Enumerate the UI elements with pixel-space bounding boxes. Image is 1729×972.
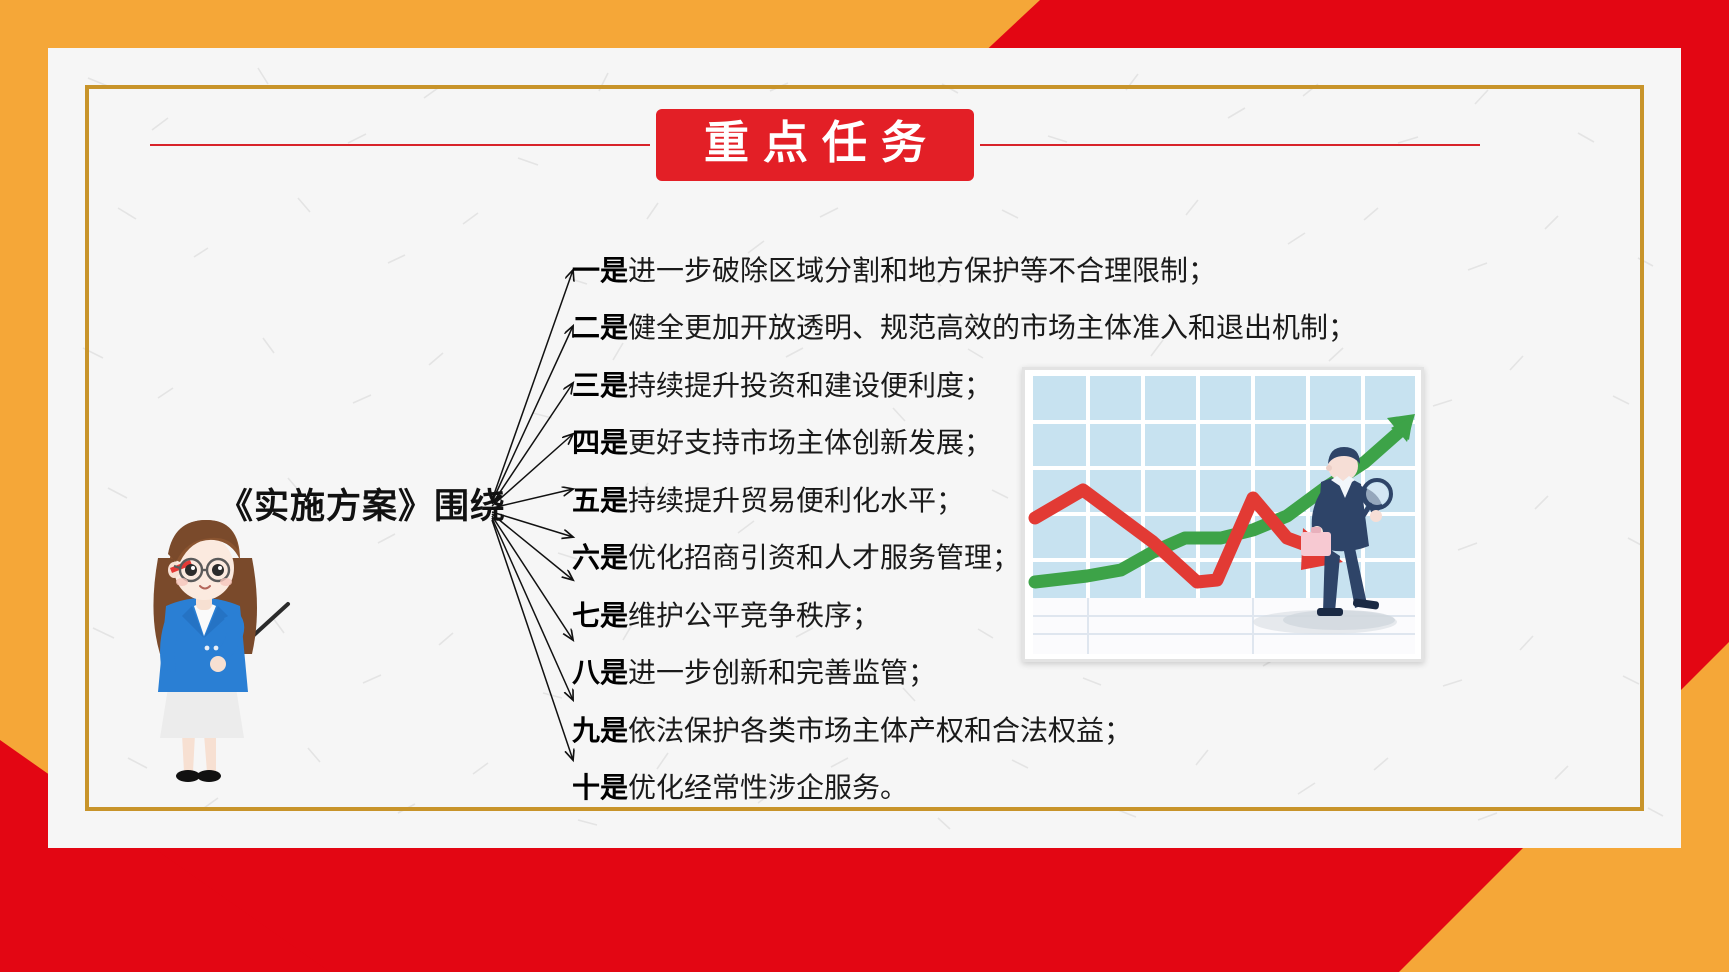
- title-row: 重点任务: [150, 108, 1480, 182]
- business-growth-chart-illustration: [1022, 367, 1424, 662]
- task-text: 持续提升贸易便利化水平；: [628, 479, 964, 519]
- poster-canvas: 重点任务 《实施方案》围绕 一是 进一步破除区域分割和地方保护等不合理限制；: [0, 0, 1729, 972]
- task-number: 九是: [572, 709, 628, 749]
- task-item: 十是 优化经常性涉企服务。: [572, 758, 1392, 816]
- title-rule-right: [980, 144, 1480, 146]
- task-item: 一是 进一步破除区域分割和地方保护等不合理限制；: [572, 240, 1392, 298]
- task-text: 更好支持市场主体创新发展；: [628, 421, 992, 461]
- task-text: 健全更加开放透明、规范高效的市场主体准入和退出机制；: [628, 306, 1356, 346]
- title-rule-left: [150, 144, 650, 146]
- task-number: 四是: [572, 421, 628, 461]
- page-title: 重点任务: [656, 109, 974, 181]
- task-number: 六是: [572, 536, 628, 576]
- task-text: 维护公平竞争秩序；: [628, 594, 880, 634]
- task-number: 八是: [572, 651, 628, 691]
- task-number: 五是: [572, 479, 628, 519]
- task-item: 九是 依法保护各类市场主体产权和合法权益；: [572, 700, 1392, 758]
- task-number: 二是: [572, 306, 628, 346]
- task-text: 进一步创新和完善监管；: [628, 651, 936, 691]
- task-text: 持续提升投资和建设便利度；: [628, 364, 992, 404]
- task-text: 优化招商引资和人才服务管理；: [628, 536, 1020, 576]
- task-number: 七是: [572, 594, 628, 634]
- task-text: 进一步破除区域分割和地方保护等不合理限制；: [628, 249, 1216, 289]
- task-number: 三是: [572, 364, 628, 404]
- task-text: 依法保护各类市场主体产权和合法权益；: [628, 709, 1132, 749]
- teacher-character-illustration: [108, 496, 298, 796]
- task-number: 十是: [572, 766, 628, 806]
- task-item: 二是 健全更加开放透明、规范高效的市场主体准入和退出机制；: [572, 298, 1392, 356]
- task-number: 一是: [572, 249, 628, 289]
- line-chart-icon: [1025, 370, 1421, 659]
- task-text: 优化经常性涉企服务。: [628, 766, 908, 806]
